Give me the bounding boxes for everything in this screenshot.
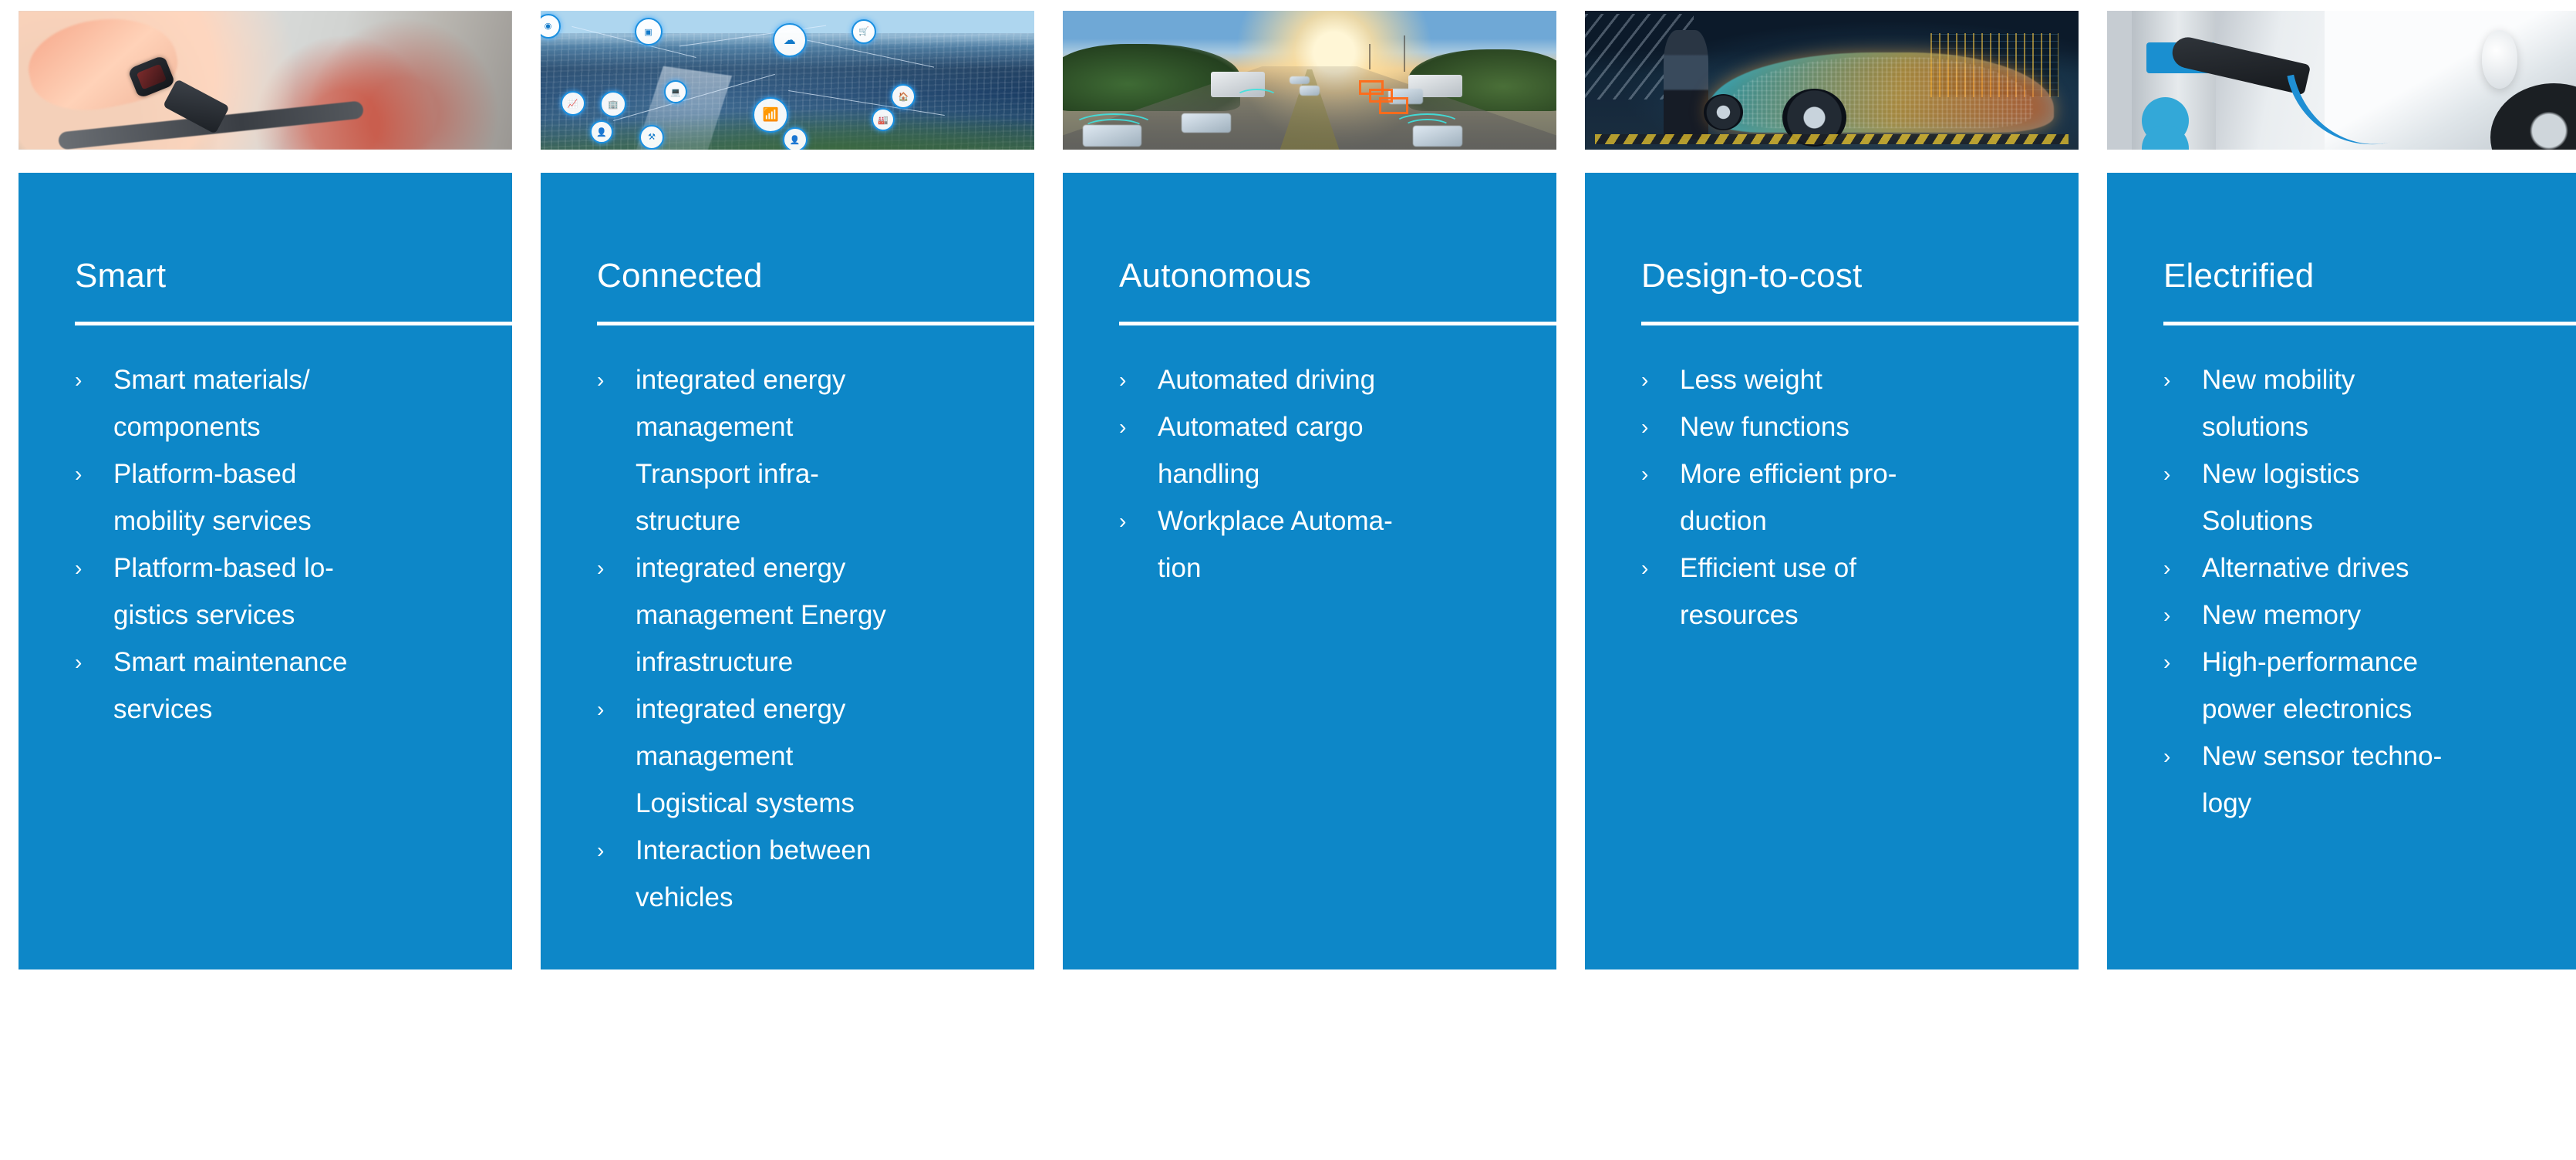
bullet-list-electrified: › New mobility solutions › New logistics… [2163,325,2576,827]
list-item: › integrated energy management Logistica… [597,686,1014,827]
list-item: › Automated cargo handling [1119,403,1536,497]
bullet-list-design-to-cost: › Less weight › New functions › More eff… [1641,325,2058,639]
home-icon: 🏠 [891,84,915,109]
list-item-label: Alternative drives [2202,545,2576,592]
column-autonomous: Autonomous › Automated driving › Automat… [1063,11,1556,969]
list-item-label: More efficient pro- duction [1680,450,2058,545]
chevron-right-icon: › [1119,403,1158,497]
chart-icon: 📈 [561,91,585,116]
list-item-label: integrated energy management Transport i… [636,356,1014,545]
list-item: › New memory [2163,592,2576,639]
chevron-right-icon: › [1119,497,1158,592]
factory-icon: 🏭 [872,108,895,131]
wheel-shape [1704,94,1743,130]
cloud-icon: ☁ [773,23,807,57]
chevron-right-icon: › [75,356,113,450]
chevron-right-icon: › [2163,592,2202,639]
sensor-wave-icon [1083,119,1145,139]
chevron-right-icon: › [597,827,636,921]
list-item: › High-performance power electronics [2163,639,2576,733]
list-item-label: High-performance power electronics [2202,639,2576,733]
list-item-label: Interaction between vehicles [636,827,1014,921]
wifi-icon: 📶 [753,97,788,133]
chevron-right-icon: › [1119,356,1158,403]
chevron-right-icon: › [597,686,636,827]
chevron-right-icon: › [597,356,636,545]
person-icon: 👤 [783,127,808,150]
column-smart: Smart › Smart materials/ components › Pl… [19,11,512,969]
column-design-to-cost: Design-to-cost › Less weight › New funct… [1585,11,2079,969]
column-connected: ◉ ▣ ☁ 🛒 📈 🏢 💻 📶 🏠 🏭 👤 ⚒ 👤 Connected [541,11,1034,969]
car-shape [1182,113,1231,133]
card-design-to-cost: Design-to-cost › Less weight › New funct… [1585,173,2079,969]
card-title-smart: Smart [75,173,492,293]
floor-marking-shape [1595,134,2069,144]
list-item-label: New functions [1680,403,2058,450]
list-item: › New sensor techno- logy [2163,733,2576,827]
card-electrified: Electrified › New mobility solutions › N… [2107,173,2576,969]
list-item-label: Efficient use of resources [1680,545,2058,639]
card-title-autonomous: Autonomous [1119,173,1536,293]
car-shape [1300,86,1320,96]
card-title-connected: Connected [597,173,1014,293]
list-item: › Workplace Automa- tion [1119,497,1536,592]
list-item-label: Less weight [1680,356,2058,403]
tyre-shape [2490,83,2576,150]
chevron-right-icon: › [75,450,113,545]
list-item-label: Workplace Automa- tion [1158,497,1536,592]
card-title-electrified: Electrified [2163,173,2576,293]
list-item-label: Smart maintenance services [113,639,492,733]
engineer-silhouette [1664,30,1708,138]
user-icon: 👤 [590,120,613,143]
card-smart: Smart › Smart materials/ components › Pl… [19,173,512,969]
list-item: › Alternative drives [2163,545,2576,592]
list-item-label: Platform-based lo- gistics services [113,545,492,639]
shopping-cart-icon: 🛒 [851,19,876,44]
detection-box-icon [1379,97,1408,114]
list-item-label: Smart materials/ components [113,356,492,450]
list-item: › Platform-based lo- gistics services [75,545,492,639]
list-item: › New mobility solutions [2163,356,2576,450]
list-item: › New logistics Solutions [2163,450,2576,545]
chevron-right-icon: › [2163,733,2202,827]
list-item-label: integrated energy management Energy infr… [636,545,1014,686]
bullet-list-smart: › Smart materials/ components › Platform… [75,325,492,733]
list-item-label: Automated driving [1158,356,1536,403]
car-shape [1290,76,1310,85]
bullet-list-autonomous: › Automated driving › Automated cargo ha… [1119,325,1536,592]
chevron-right-icon: › [75,545,113,639]
charging-port-cover-shape [2482,30,2518,89]
iot-network-overlay: ◉ ▣ ☁ 🛒 📈 🏢 💻 📶 🏠 🏭 👤 ⚒ 👤 [541,11,1034,150]
chevron-right-icon: › [2163,450,2202,545]
list-item: › New functions [1641,403,2058,450]
chevron-right-icon: › [1641,450,1680,545]
list-item-label: New logistics Solutions [2202,450,2576,545]
chevron-right-icon: › [1641,403,1680,450]
list-item: › Automated driving [1119,356,1536,403]
chevron-right-icon: › [2163,545,2202,592]
card-connected: Connected › integrated energy management… [541,173,1034,969]
laptop-icon: 💻 [664,80,687,103]
list-item-label: Platform-based mobility services [113,450,492,545]
technology-fields-board: Smart › Smart materials/ components › Pl… [0,0,2576,1160]
list-item-label: New mobility solutions [2202,356,2576,450]
list-item-label: New sensor techno- logy [2202,733,2576,827]
card-autonomous: Autonomous › Automated driving › Automat… [1063,173,1556,969]
charging-station-shape [2132,11,2216,150]
chevron-right-icon: › [2163,639,2202,733]
card-title-design-to-cost: Design-to-cost [1641,173,2058,293]
list-item-label: New memory [2202,592,2576,639]
ev-charging-cable-photo [2107,11,2576,150]
list-item: › Smart materials/ components [75,356,492,450]
list-item: › integrated energy management Energy in… [597,545,1014,686]
building-icon: 🏢 [600,91,626,117]
chevron-right-icon: › [1641,545,1680,639]
list-item: › Platform-based mobility services [75,450,492,545]
globe-icon: ◉ [541,14,561,39]
list-item: › More efficient pro- duction [1641,450,2058,545]
chevron-right-icon: › [75,639,113,733]
highway-autonomous-vehicles-photo [1063,11,1556,150]
chevron-right-icon: › [2163,356,2202,450]
list-item: › integrated energy management Transport… [597,356,1014,545]
engineer-hologram-car-photo [1585,11,2079,150]
list-item: › Smart maintenance services [75,639,492,733]
list-item: › Interaction between vehicles [597,827,1014,921]
smartwatch-bike-sharing-photo [19,11,512,150]
bullet-list-connected: › integrated energy management Transport… [597,325,1014,921]
list-item-label: integrated energy management Logistical … [636,686,1014,827]
chevron-right-icon: › [597,545,636,686]
sensor-wave-icon [1236,89,1278,106]
smart-city-iot-network-photo: ◉ ▣ ☁ 🛒 📈 🏢 💻 📶 🏠 🏭 👤 ⚒ 👤 [541,11,1034,150]
chip-icon: ▣ [635,18,663,46]
industry-icon: ⚒ [639,125,664,150]
list-item: › Less weight [1641,356,2058,403]
list-item: › Efficient use of resources [1641,545,2058,639]
chevron-right-icon: › [1641,356,1680,403]
list-item-label: Automated cargo handling [1158,403,1536,497]
column-electrified: Electrified › New mobility solutions › N… [2107,11,2576,969]
column-grid: Smart › Smart materials/ components › Pl… [19,11,2536,969]
